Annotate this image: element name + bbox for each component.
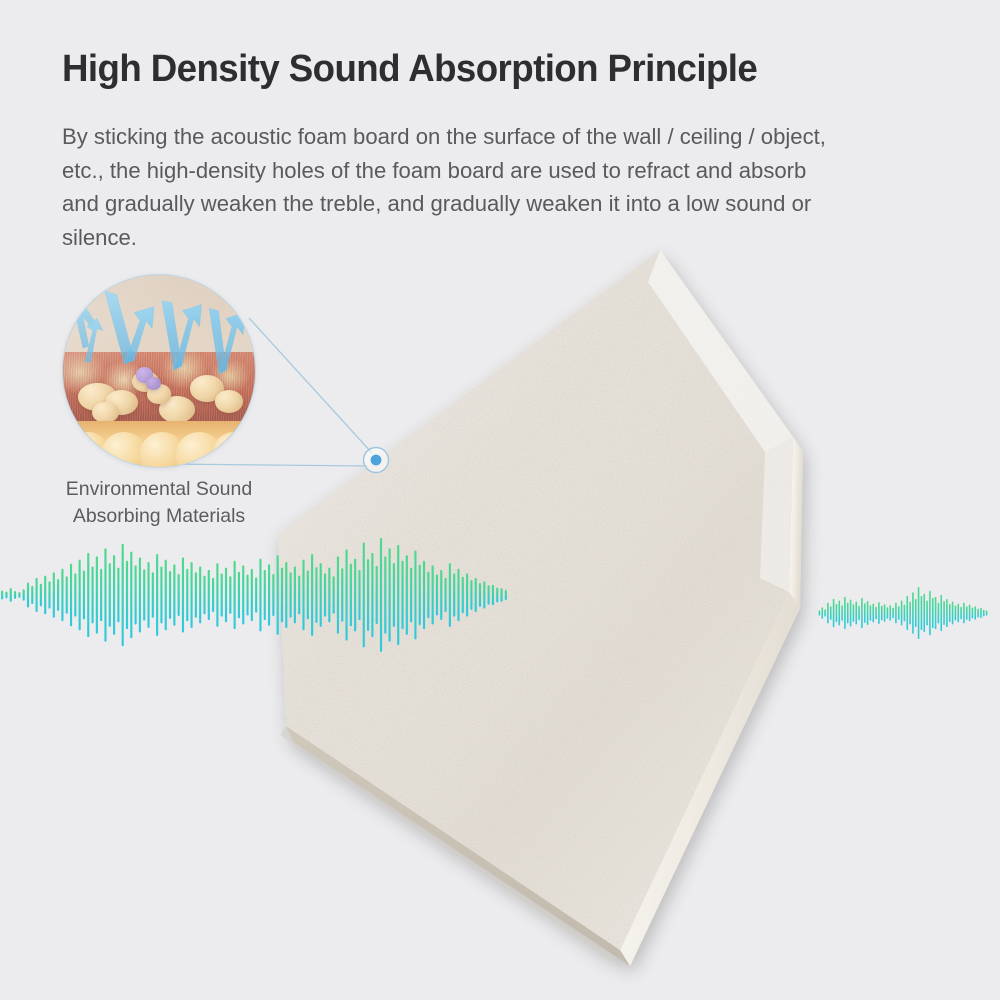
waveform-bar xyxy=(290,572,292,618)
waveform-bar xyxy=(853,604,855,622)
waveform-bar xyxy=(298,576,300,615)
waveform-bar xyxy=(367,559,369,631)
waveform-bar xyxy=(208,570,210,620)
panel-target-marker-dot xyxy=(371,455,382,466)
waveform-bar xyxy=(492,585,494,606)
waveform-bar xyxy=(963,603,965,624)
waveform-bar xyxy=(445,578,447,612)
waveform-bar xyxy=(363,543,365,648)
waveform-bar xyxy=(878,602,880,624)
waveform-bar xyxy=(203,576,205,615)
waveform-bar xyxy=(898,606,900,620)
waveform-bar xyxy=(91,567,93,624)
waveform-bar xyxy=(100,569,102,621)
waveform-bar xyxy=(44,576,46,615)
waveform-bar xyxy=(61,569,63,621)
caption-line-1: Environmental Sound xyxy=(28,476,290,503)
waveform-bar xyxy=(488,585,490,604)
waveform-bar xyxy=(952,602,954,625)
waveform-bar xyxy=(229,576,231,614)
magnified-material-view xyxy=(62,274,256,468)
waveform-bar xyxy=(18,592,20,598)
waveform-bar xyxy=(892,608,894,618)
waveform-bar xyxy=(186,569,188,621)
waveform-bar xyxy=(833,599,835,628)
waveform-bar xyxy=(66,576,68,614)
waveform-bar xyxy=(926,601,928,626)
waveform-bar xyxy=(333,576,335,614)
waveform-bar xyxy=(294,567,296,624)
waveform-bar xyxy=(337,556,339,634)
waveform-bar xyxy=(946,599,948,627)
waveform-bar xyxy=(324,573,326,616)
magnifier-caption: Environmental Sound Absorbing Materials xyxy=(28,476,290,530)
waveform-bar xyxy=(83,570,85,619)
waveform-bar xyxy=(940,595,942,631)
waveform-bar xyxy=(901,601,903,626)
waveform-bar xyxy=(397,545,399,645)
waveform-bar xyxy=(401,561,403,629)
waveform-bar xyxy=(470,580,472,610)
waveform-bar xyxy=(966,606,968,620)
waveform-bar xyxy=(87,553,89,637)
waveform-bar xyxy=(104,548,106,641)
waveform-bar xyxy=(827,603,829,624)
waveform-bar xyxy=(980,608,982,618)
waveform-bar xyxy=(440,570,442,620)
waveform-bar xyxy=(1,590,3,599)
waveform-bar xyxy=(457,569,459,621)
waveform-bar xyxy=(955,605,957,620)
caption-line-2: Absorbing Materials xyxy=(28,503,290,530)
waveform-bar xyxy=(864,603,866,623)
incoming-sound-wave xyxy=(0,536,508,654)
waveform-bar xyxy=(152,572,154,618)
waveform-bar xyxy=(53,572,55,618)
waveform-bar xyxy=(242,565,244,624)
waveform-bar xyxy=(977,609,979,618)
waveform-bar xyxy=(285,562,287,628)
waveform-bar xyxy=(830,606,832,620)
waveform-bar xyxy=(345,549,347,640)
waveform-bar xyxy=(341,568,343,622)
waveform-bar xyxy=(264,570,266,620)
waveform-bar xyxy=(302,560,304,631)
waveform-bar xyxy=(238,572,240,619)
waveform-bar xyxy=(960,607,962,619)
waveform-bar xyxy=(122,544,124,647)
waveform-bar xyxy=(423,561,425,629)
waveform-bar xyxy=(872,604,874,623)
waveform-bar xyxy=(466,573,468,616)
waveform-bar xyxy=(918,587,920,639)
waveform-bar xyxy=(277,555,279,635)
arrow-v-bounce-1 xyxy=(124,306,154,363)
waveform-bar xyxy=(358,570,360,620)
waveform-bar xyxy=(79,560,81,631)
waveform-bar xyxy=(328,568,330,623)
waveform-bar xyxy=(932,598,934,628)
waveform-bar xyxy=(389,548,391,641)
waveform-bar xyxy=(113,555,115,635)
waveform-bar xyxy=(311,554,313,636)
waveform-bar xyxy=(875,607,877,619)
waveform-bar xyxy=(57,579,59,611)
waveform-bar xyxy=(31,586,33,604)
waveform-bar xyxy=(74,573,76,616)
waveform-bar xyxy=(904,605,906,622)
waveform-bar xyxy=(272,574,274,616)
waveform-bar xyxy=(906,596,908,630)
waveform-bar xyxy=(943,601,945,625)
waveform-bar xyxy=(949,604,951,622)
waveform-bar xyxy=(307,570,309,619)
waveform-bar xyxy=(432,565,434,624)
waveform-bar xyxy=(173,564,175,626)
waveform-bar xyxy=(36,578,38,612)
waveform-bar xyxy=(867,601,869,625)
waveform-bar xyxy=(135,565,137,624)
waveform-bar xyxy=(500,588,502,602)
waveform-bar xyxy=(380,538,382,652)
waveform-bar xyxy=(986,610,988,615)
waveform-bar xyxy=(858,606,860,621)
waveform-bar xyxy=(889,605,891,621)
arrow-v-bounce-3 xyxy=(219,312,245,373)
waveform-bar xyxy=(255,577,257,612)
waveform-bar xyxy=(836,604,838,622)
waveform-bar xyxy=(130,552,132,639)
waveform-bar xyxy=(354,559,356,632)
waveform-bar xyxy=(5,592,7,599)
arrow-v-bounce-2 xyxy=(174,304,202,369)
waveform-bar xyxy=(427,572,429,619)
waveform-bar xyxy=(983,610,985,617)
waveform-bar xyxy=(483,581,485,608)
waveform-bar xyxy=(935,597,937,629)
waveform-bar xyxy=(912,592,914,634)
waveform-bar xyxy=(819,610,821,615)
waveform-bar xyxy=(40,584,42,607)
waveform-bar xyxy=(281,568,283,623)
waveform-bar xyxy=(147,562,149,628)
waveform-bar xyxy=(251,569,253,621)
waveform-bar xyxy=(178,574,180,616)
waveform-bar xyxy=(160,567,162,624)
waveform-bar xyxy=(847,603,849,624)
waveform-bar xyxy=(96,556,98,634)
waveform-bar xyxy=(259,559,261,632)
waveform-bar xyxy=(320,563,322,627)
waveform-bar xyxy=(921,596,923,630)
waveform-bar xyxy=(974,606,976,620)
waveform-bar xyxy=(393,563,395,627)
waveform-bar xyxy=(957,604,959,623)
waveform-bar xyxy=(195,572,197,618)
waveform-bar xyxy=(126,561,128,629)
waveform-bar xyxy=(70,564,72,627)
waveform-bar xyxy=(462,577,464,613)
waveform-bar xyxy=(199,567,201,624)
waveform-bar xyxy=(246,574,248,615)
magnifier-lens xyxy=(62,274,256,468)
waveform-bar xyxy=(221,573,223,616)
waveform-bar xyxy=(109,563,111,627)
waveform-bar xyxy=(234,561,236,629)
waveform-bar xyxy=(887,607,889,618)
waveform-bar xyxy=(855,602,857,625)
waveform-bar xyxy=(315,567,317,623)
waveform-bar xyxy=(479,583,481,607)
waveform-bar xyxy=(191,562,193,628)
waveform-bar xyxy=(384,556,386,634)
waveform-bar xyxy=(406,555,408,635)
waveform-bar xyxy=(143,569,145,620)
waveform-bar xyxy=(216,563,218,627)
waveform-bar xyxy=(169,571,171,619)
waveform-bar xyxy=(27,582,29,607)
waveform-bar xyxy=(496,588,498,603)
waveform-bar xyxy=(212,578,214,612)
waveform-bar xyxy=(909,602,911,625)
waveform-bar xyxy=(929,591,931,636)
waveform-bar xyxy=(48,581,50,608)
waveform-bar xyxy=(14,591,16,599)
waveform-bar xyxy=(824,609,826,616)
waveform-bar xyxy=(376,566,378,624)
waveform-bar xyxy=(844,597,846,629)
waveform-bar xyxy=(881,606,883,621)
waveform-bar xyxy=(821,607,823,618)
sound-wave-arrows xyxy=(63,283,255,421)
waveform-bar xyxy=(182,557,184,632)
foam-sphere xyxy=(213,432,255,468)
waveform-bar xyxy=(139,557,141,632)
waveform-bar xyxy=(923,594,925,632)
waveform-bar xyxy=(350,564,352,627)
waveform-bar xyxy=(884,604,886,622)
waveform-bar xyxy=(268,564,270,626)
connector-line-upper xyxy=(249,318,372,453)
infographic-canvas: High Density Sound Absorption Principle … xyxy=(0,0,1000,1000)
waveform-bar xyxy=(972,608,974,619)
waveform-bar xyxy=(915,599,917,627)
waveform-bar xyxy=(895,603,897,624)
waveform-bar xyxy=(371,553,373,637)
waveform-bar xyxy=(165,560,167,631)
waveform-bar xyxy=(23,589,25,600)
waveform-bar xyxy=(870,605,872,621)
waveform-bar xyxy=(841,605,843,621)
waveform-bar xyxy=(475,578,477,612)
waveform-bar xyxy=(505,590,507,600)
waveform-bar xyxy=(410,568,412,623)
waveform-bar xyxy=(419,565,421,625)
waveform-bar xyxy=(449,563,451,627)
waveform-bar xyxy=(436,574,438,615)
waveform-bar xyxy=(117,568,119,623)
waveform-bar xyxy=(850,599,852,626)
waveform-bar xyxy=(225,568,227,623)
attenuated-sound-wave xyxy=(818,585,988,641)
waveform-bar xyxy=(453,573,455,616)
waveform-bar xyxy=(969,605,971,622)
waveform-bar xyxy=(156,554,158,636)
waveform-bar xyxy=(414,551,416,640)
waveform-bar xyxy=(838,601,840,626)
waveform-bar xyxy=(938,603,940,624)
waveform-bar xyxy=(10,588,12,602)
waveform-bar xyxy=(861,598,863,628)
